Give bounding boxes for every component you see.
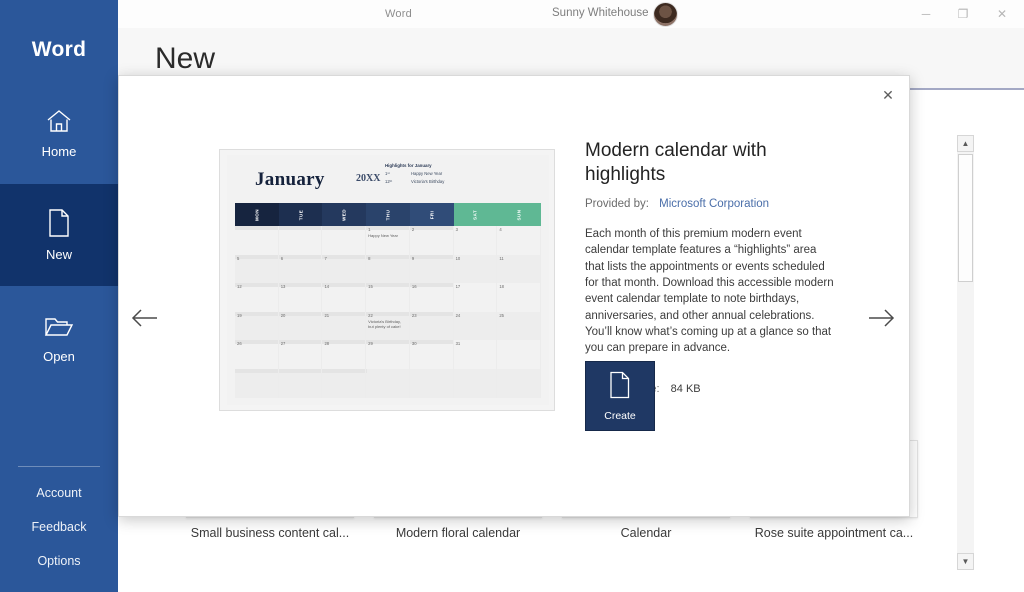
open-folder-icon — [43, 314, 75, 340]
close-icon[interactable]: ✕ — [873, 82, 903, 108]
calendar-day: 26 — [235, 340, 279, 369]
day-header: THU — [366, 203, 410, 226]
sidebar-item-account[interactable]: Account — [0, 486, 118, 500]
titlebar-app-name: Word — [385, 8, 412, 20]
calendar-day: 12 — [235, 283, 279, 312]
calendar-week: 5 6 7 8 9 10 11 — [235, 255, 541, 284]
calendar-day — [279, 226, 323, 255]
calendar-day: 31 — [454, 340, 498, 369]
restore-button[interactable]: ❐ — [952, 4, 974, 24]
calendar-day: 4 — [497, 226, 541, 255]
page-title: New — [155, 42, 215, 76]
new-document-icon — [608, 371, 632, 404]
calendar-day — [497, 340, 541, 369]
calendar-year: 20XX — [356, 173, 380, 184]
backstage-sidebar: Word Home New — [0, 0, 118, 592]
scroll-down-button[interactable]: ▼ — [957, 553, 974, 570]
highlight-day: 12ᵗʰ — [385, 179, 411, 184]
calendar-day — [497, 369, 541, 398]
calendar-day: 21 — [322, 312, 366, 341]
calendar-day: 22Victoria's Birthday, but plenty of cak… — [366, 312, 410, 341]
new-document-icon — [46, 208, 72, 238]
highlight-row: 1ˢᵗ Happy New Year — [385, 171, 505, 176]
calendar-week: 1Happy New Year 2 3 4 — [235, 226, 541, 255]
template-preview-image: January 20XX Highlights for January 1ˢᵗ … — [219, 149, 555, 411]
calendar-day: 25 — [497, 312, 541, 341]
calendar-week — [235, 369, 541, 398]
download-size-value: 84 KB — [671, 383, 701, 395]
calendar-week: 26 27 28 29 30 31 — [235, 340, 541, 369]
calendar-day: 1Happy New Year — [366, 226, 410, 255]
calendar-day: 6 — [279, 255, 323, 284]
calendar-day — [279, 369, 323, 398]
day-header: FRI — [410, 203, 454, 226]
template-name: Calendar — [552, 526, 740, 540]
calendar-day: 14 — [322, 283, 366, 312]
template-name: Rose suite appointment ca... — [740, 526, 928, 540]
day-header: SUN — [497, 203, 541, 226]
day-header: MON — [235, 203, 279, 226]
calendar-day: 17 — [454, 283, 498, 312]
scrollbar-thumb[interactable] — [958, 154, 973, 282]
template-name: Small business content cal... — [176, 526, 364, 540]
calendar-day: 2 — [410, 226, 454, 255]
sidebar-item-home[interactable]: Home — [0, 82, 118, 184]
calendar-day: 18 — [497, 283, 541, 312]
sidebar-item-open[interactable]: Open — [0, 288, 118, 390]
highlight-day: 1ˢᵗ — [385, 171, 411, 176]
calendar-day: 24 — [454, 312, 498, 341]
provided-by-label: Provided by: — [585, 198, 649, 210]
calendar-month: January — [255, 169, 325, 191]
calendar-day: 11 — [497, 255, 541, 284]
template-preview-dialog: ✕ January 20XX Highlights for January 1ˢ… — [118, 75, 910, 517]
sidebar-item-label: Home — [42, 144, 77, 159]
calendar-highlights: Highlights for January 1ˢᵗ Happy New Yea… — [385, 163, 505, 186]
calendar-day: 15 — [366, 283, 410, 312]
calendar-day: 29 — [366, 340, 410, 369]
calendar-day — [322, 226, 366, 255]
next-template-button[interactable] — [865, 301, 899, 335]
highlights-title: Highlights for January — [385, 163, 505, 168]
sidebar-item-label: Open — [43, 349, 75, 364]
sidebar-item-feedback[interactable]: Feedback — [0, 520, 118, 534]
calendar-day — [410, 369, 454, 398]
calendar-day: 5 — [235, 255, 279, 284]
calendar-day: 27 — [279, 340, 323, 369]
calendar-day: 13 — [279, 283, 323, 312]
calendar-day: 7 — [322, 255, 366, 284]
calendar-day — [235, 369, 279, 398]
calendar-day: 23 — [410, 312, 454, 341]
calendar-day: 28 — [322, 340, 366, 369]
create-button-label: Create — [604, 410, 636, 422]
create-button[interactable]: Create — [585, 361, 655, 431]
calendar-day: 19 — [235, 312, 279, 341]
calendar-day — [235, 226, 279, 255]
page-scrollbar[interactable]: ▲ ▼ — [957, 135, 974, 570]
calendar-day: 3 — [454, 226, 498, 255]
calendar-day: 16 — [410, 283, 454, 312]
calendar-day — [322, 369, 366, 398]
template-description: Each month of this premium modern event … — [585, 226, 835, 357]
calendar-grid: 1Happy New Year 2 3 4 5 6 7 8 9 10 11 — [235, 226, 541, 398]
user-avatar[interactable] — [653, 2, 678, 27]
template-title: Modern calendar with highlights — [585, 139, 835, 187]
sidebar-item-label: New — [46, 247, 72, 262]
calendar-week: 12 13 14 15 16 17 18 — [235, 283, 541, 312]
calendar-day: 9 — [410, 255, 454, 284]
day-header: WED — [322, 203, 366, 226]
sidebar-divider — [18, 466, 100, 467]
window-close-button[interactable]: ✕ — [991, 4, 1013, 24]
home-icon — [44, 107, 74, 135]
calendar-page: January 20XX Highlights for January 1ˢᵗ … — [227, 155, 549, 405]
titlebar-user-name[interactable]: Sunny Whitehouse — [552, 7, 649, 19]
minimize-button[interactable]: ─ — [915, 4, 937, 24]
template-name: Modern floral calendar — [364, 526, 552, 540]
sidebar-item-new[interactable]: New — [0, 184, 118, 286]
calendar-day: 30 — [410, 340, 454, 369]
template-info: Modern calendar with highlights Provided… — [585, 139, 835, 395]
previous-template-button[interactable] — [127, 301, 161, 335]
word-backstage-screen: Word Sunny Whitehouse ─ ❐ ✕ New Small bu… — [0, 0, 1024, 592]
calendar-day: 8 — [366, 255, 410, 284]
highlight-text: Happy New Year — [411, 171, 442, 176]
product-name: Word — [0, 38, 118, 62]
calendar-day-headers: MON TUE WED THU FRI SAT SUN — [235, 203, 541, 226]
sidebar-item-options[interactable]: Options — [0, 554, 118, 568]
provider-link[interactable]: Microsoft Corporation — [659, 198, 769, 210]
calendar-day: 10 — [454, 255, 498, 284]
highlight-text: Victoria's Birthday — [411, 179, 444, 184]
provided-by: Provided by: Microsoft Corporation — [585, 198, 835, 210]
calendar-day: 20 — [279, 312, 323, 341]
highlight-row: 12ᵗʰ Victoria's Birthday — [385, 179, 505, 184]
scroll-up-button[interactable]: ▲ — [957, 135, 974, 152]
calendar-week: 19 20 21 22Victoria's Birthday, but plen… — [235, 312, 541, 341]
day-header: SAT — [454, 203, 498, 226]
day-header: TUE — [279, 203, 323, 226]
calendar-day — [454, 369, 498, 398]
calendar-day — [366, 369, 410, 398]
